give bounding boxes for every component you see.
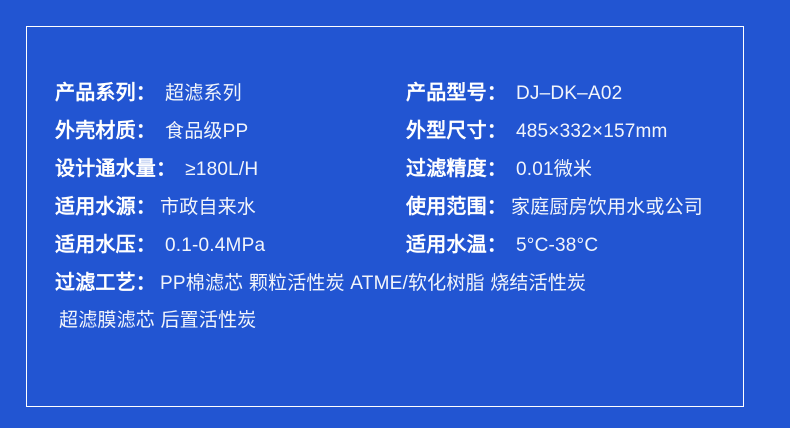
spec-value-design-flow: ≥180L/H [185, 160, 258, 179]
spec-value-water-temperature: 5°C-38°C [516, 236, 598, 255]
spec-label-filtration-accuracy: 过滤精度： [406, 159, 507, 179]
spec-row: 过滤精度： 0.01微米 [406, 159, 592, 179]
spec-row: 设计通水量： ≥180L/H [55, 159, 258, 179]
spec-value-product-series: 超滤系列 [165, 84, 242, 103]
spec-label-model: 产品型号： [406, 83, 507, 103]
spec-value-filtration-process-line2: 超滤膜滤芯 后置活性炭 [59, 311, 256, 330]
spec-row: 适用水压： 0.1-0.4MPa [55, 235, 265, 255]
spec-label-shell-material: 外壳材质： [55, 121, 156, 141]
spec-value-shell-material: 食品级PP [165, 122, 248, 141]
spec-row: 外型尺寸： 485×332×157mm [406, 121, 668, 141]
spec-value-water-pressure: 0.1-0.4MPa [165, 236, 265, 255]
spec-panel: 产品系列： 超滤系列 外壳材质： 食品级PP 设计通水量： ≥180L/H 适用… [26, 26, 744, 407]
spec-row: 过滤工艺： PP棉滤芯 颗粒活性炭 ATME/软化树脂 烧结活性炭 [55, 273, 586, 293]
spec-row: 适用水温： 5°C-38°C [406, 235, 598, 255]
spec-label-product-series: 产品系列： [55, 83, 156, 103]
spec-label-water-pressure: 适用水压： [55, 235, 156, 255]
spec-label-filtration-process: 过滤工艺： [55, 273, 156, 293]
spec-value-model: DJ–DK–A02 [516, 84, 622, 103]
spec-value-filtration-accuracy: 0.01微米 [516, 160, 592, 179]
spec-row: 外壳材质： 食品级PP [55, 121, 248, 141]
spec-value-dimensions: 485×332×157mm [516, 122, 668, 141]
spec-value-usage-scope: 家庭厨房饮用水或公司 [511, 198, 703, 217]
spec-label-dimensions: 外型尺寸： [406, 121, 507, 141]
spec-grid: 产品系列： 超滤系列 外壳材质： 食品级PP 设计通水量： ≥180L/H 适用… [27, 27, 743, 406]
spec-row: 产品型号： DJ–DK–A02 [406, 83, 622, 103]
spec-row: 使用范围： 家庭厨房饮用水或公司 [406, 197, 703, 217]
spec-value-water-source: 市政自来水 [160, 198, 256, 217]
spec-row: 适用水源： 市政自来水 [55, 197, 256, 217]
spec-value-filtration-process-line1: PP棉滤芯 颗粒活性炭 ATME/软化树脂 烧结活性炭 [160, 274, 586, 293]
spec-label-usage-scope: 使用范围： [406, 197, 507, 217]
spec-row-continuation: 超滤膜滤芯 后置活性炭 [59, 311, 256, 330]
spec-label-water-source: 适用水源： [55, 197, 156, 217]
spec-label-design-flow: 设计通水量： [55, 159, 176, 179]
spec-row: 产品系列： 超滤系列 [55, 83, 242, 103]
spec-label-water-temperature: 适用水温： [406, 235, 507, 255]
